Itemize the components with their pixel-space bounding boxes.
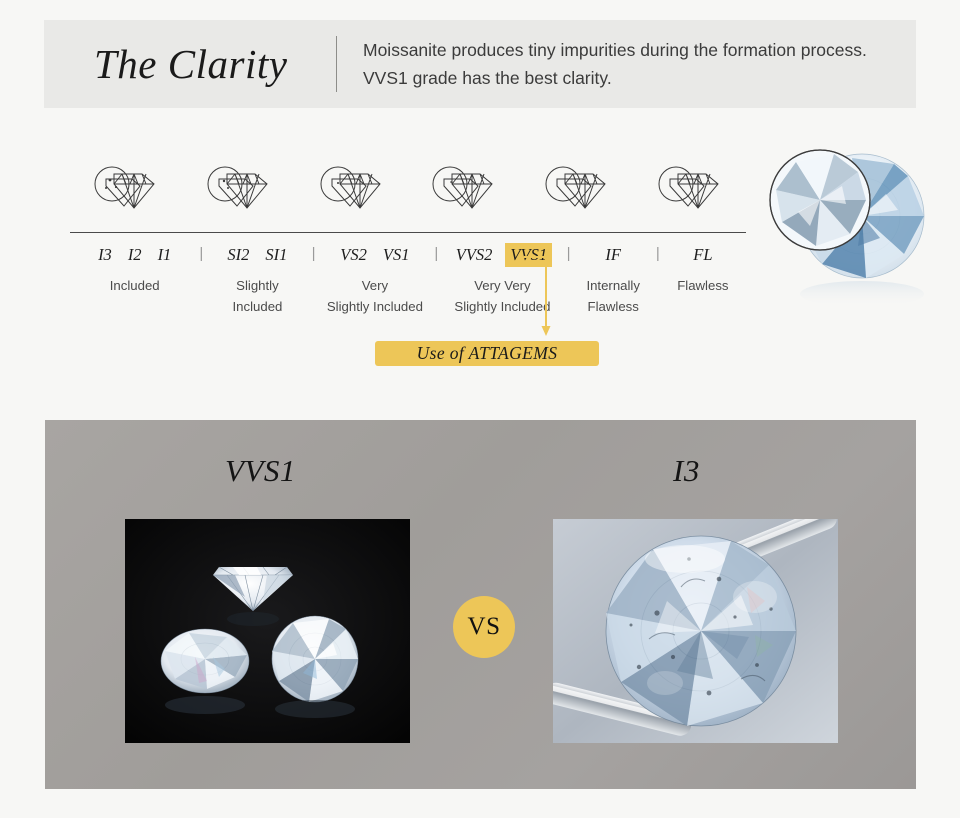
scale-icon-cell <box>408 162 521 220</box>
diamond-loupe-icon <box>539 162 615 220</box>
grade-group-very-very-slightly-included: VVS2 VVS1 Very Very Slightly Included <box>438 242 566 318</box>
grade-description: Slightly Included <box>233 275 283 318</box>
grade-codes: IF <box>602 242 624 268</box>
scale-icon-cell <box>183 162 296 220</box>
grade-codes: I3 I2 I1 <box>95 242 174 268</box>
grade-group-flawless: FL Flawless <box>660 242 746 318</box>
vvs1-diamonds-photo <box>125 519 410 743</box>
diamond-loupe-icon <box>88 162 164 220</box>
grade-group-internally-flawless: IF Internally Flawless <box>571 242 656 318</box>
scale-icon-cell <box>521 162 634 220</box>
comparison-photo-right <box>553 519 838 743</box>
comparison-label-right: I3 <box>673 453 700 489</box>
grade-codes: FL <box>690 242 715 268</box>
grade-description: Included <box>110 275 160 296</box>
attagems-badge[interactable]: Use of ATTAGEMS <box>375 341 599 366</box>
grade-group-slightly-included: SI2 SI1 Slightly Included <box>203 242 311 318</box>
scale-icon-cell <box>295 162 408 220</box>
grade-code[interactable]: SI2 <box>224 244 252 266</box>
vs-badge: VS <box>453 596 515 658</box>
scale-icon-cell <box>70 162 183 220</box>
grade-code[interactable]: SI1 <box>262 244 290 266</box>
grade-code-highlighted[interactable]: VVS1 <box>505 243 552 267</box>
grade-code[interactable]: FL <box>690 244 715 266</box>
diamond-loupe-icon <box>426 162 502 220</box>
grade-group-included: I3 I2 I1 Included <box>70 242 199 318</box>
grade-code[interactable]: I1 <box>155 244 175 266</box>
clarity-scale-rule <box>70 232 746 233</box>
grade-code[interactable]: VVS2 <box>453 244 496 266</box>
comparison-photo-left <box>125 519 410 743</box>
comparison-label-left: VVS1 <box>225 453 296 489</box>
grade-codes: VVS2 VVS1 <box>453 242 552 268</box>
header-band: The Clarity Moissanite produces tiny imp… <box>44 20 916 108</box>
i3-diamond-tweezers-photo <box>553 519 838 743</box>
grade-codes: VS2 VS1 <box>337 242 412 268</box>
scale-icon-cell <box>633 162 746 220</box>
clarity-infographic-page: The Clarity Moissanite produces tiny imp… <box>0 0 960 818</box>
grade-code[interactable]: I3 <box>95 244 115 266</box>
grade-description: Flawless <box>677 275 728 296</box>
grade-group-very-slightly-included: VS2 VS1 Very Slightly Included <box>315 242 434 318</box>
vs-badge-label: VS <box>468 613 501 641</box>
hero-diamond-image <box>758 142 954 317</box>
grade-code[interactable]: IF <box>602 244 624 266</box>
grade-code[interactable]: VS2 <box>337 244 370 266</box>
header-description: Moissanite produces tiny impurities duri… <box>337 36 913 93</box>
grade-description: Very Very Slightly Included <box>454 275 550 318</box>
page-title: The Clarity <box>44 40 336 88</box>
comparison-panel: VVS1 I3 <box>45 420 916 789</box>
grade-codes: SI2 SI1 <box>224 242 290 268</box>
clarity-grade-groups: I3 I2 I1 Included | SI2 SI1 Slightly Inc… <box>70 242 746 318</box>
grade-description: Very Slightly Included <box>327 275 423 318</box>
attagems-badge-label: Use of ATTAGEMS <box>417 343 558 364</box>
clarity-scale-icons <box>70 155 746 220</box>
grade-description: Internally Flawless <box>586 275 640 318</box>
diamond-loupe-icon <box>201 162 277 220</box>
diamond-loupe-icon <box>314 162 390 220</box>
grade-code[interactable]: I2 <box>125 244 145 266</box>
diamond-loupe-icon <box>652 162 728 220</box>
grade-code[interactable]: VS1 <box>380 244 413 266</box>
